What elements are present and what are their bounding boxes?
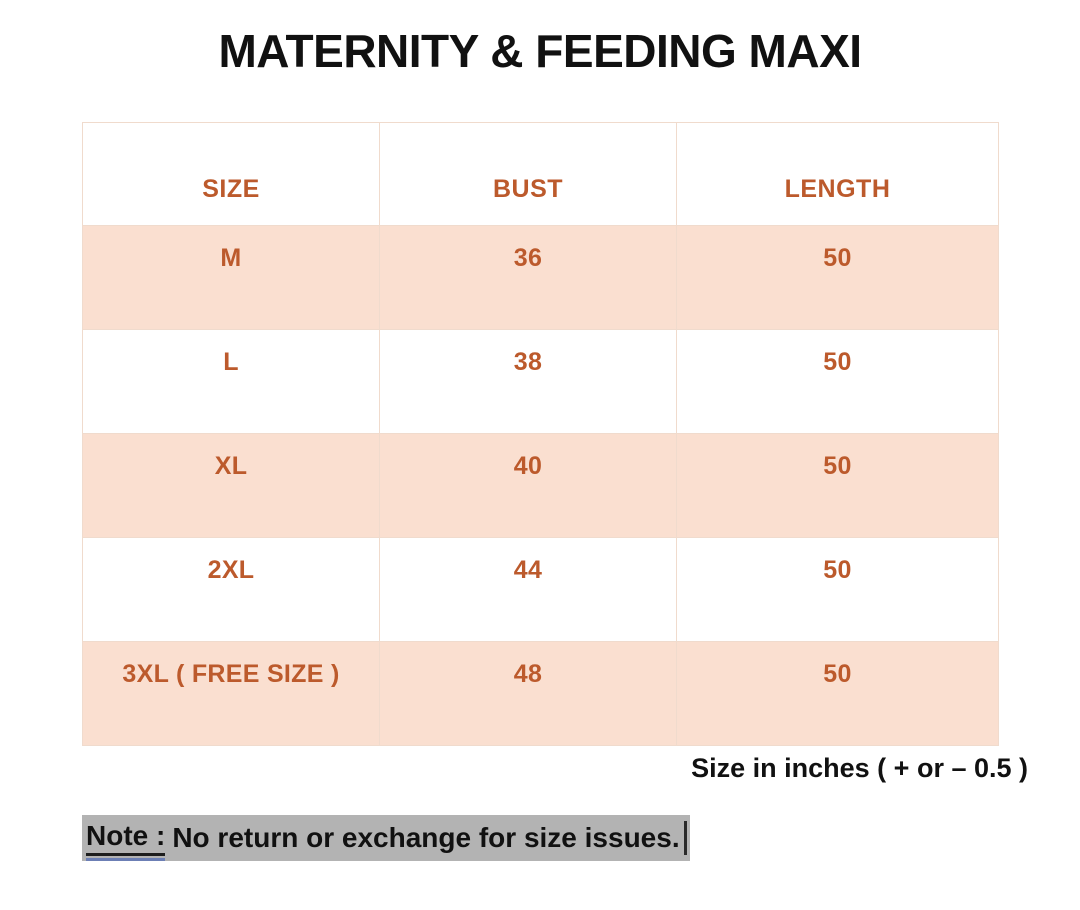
cell-length: 50 — [677, 642, 999, 746]
size-chart-page: MATERNITY & FEEDING MAXI SIZE BUST LENGT… — [0, 0, 1080, 910]
cell-length: 50 — [677, 330, 999, 434]
cell-length: 50 — [677, 538, 999, 642]
cell-length: 50 — [677, 226, 999, 330]
table-row: XL 40 50 — [83, 434, 999, 538]
column-header-length: LENGTH — [677, 123, 999, 226]
table-row: L 38 50 — [83, 330, 999, 434]
note-highlighted-text[interactable]: Note : No return or exchange for size is… — [82, 815, 690, 861]
note-text: No return or exchange for size issues. — [172, 822, 679, 854]
note-label: Note : — [86, 820, 165, 856]
table-row: 3XL ( FREE SIZE ) 48 50 — [83, 642, 999, 746]
table-header-row: SIZE BUST LENGTH — [83, 123, 999, 226]
cell-bust: 36 — [380, 226, 677, 330]
cell-length: 50 — [677, 434, 999, 538]
cell-bust: 44 — [380, 538, 677, 642]
size-chart-table: SIZE BUST LENGTH M 36 50 L 38 50 XL 40 5… — [82, 122, 999, 746]
column-header-size: SIZE — [83, 123, 380, 226]
page-title: MATERNITY & FEEDING MAXI — [0, 24, 1080, 78]
text-caret — [684, 821, 687, 855]
table-row: M 36 50 — [83, 226, 999, 330]
cell-size: M — [83, 226, 380, 330]
cell-bust: 38 — [380, 330, 677, 434]
cell-size: 3XL ( FREE SIZE ) — [83, 642, 380, 746]
size-unit-footnote: Size in inches ( + or – 0.5 ) — [691, 753, 1028, 784]
cell-size: XL — [83, 434, 380, 538]
cell-size: L — [83, 330, 380, 434]
cell-bust: 40 — [380, 434, 677, 538]
cell-size: 2XL — [83, 538, 380, 642]
column-header-bust: BUST — [380, 123, 677, 226]
cell-bust: 48 — [380, 642, 677, 746]
table-row: 2XL 44 50 — [83, 538, 999, 642]
